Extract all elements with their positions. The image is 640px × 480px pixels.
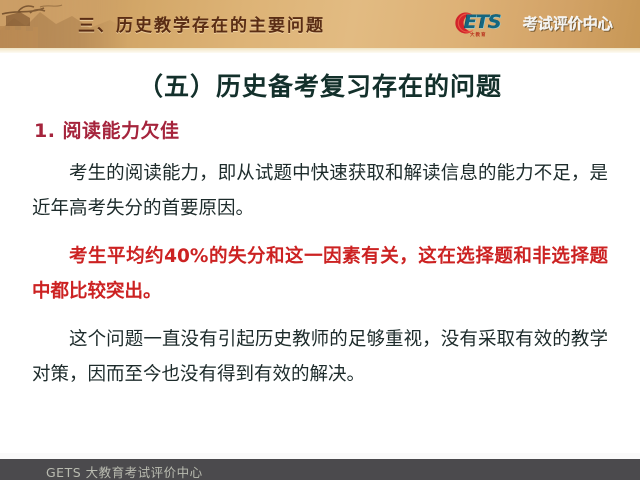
ets-logo-subtext: 大教育	[470, 32, 487, 38]
slide-body: （五）历史备考复习存在的问题 1. 阅读能力欠佳 考生的阅读能力，即从试题中快速…	[0, 53, 640, 453]
slide-header: 三、历史教学存在的主要问题 ETS 大教育 考试评价中心	[0, 0, 640, 48]
body-paragraph-1: 考生的阅读能力，即从试题中快速获取和解读信息的能力不足，是近年高考失分的首要原因…	[32, 156, 608, 226]
ets-logo: ETS 大教育 考试评价中心	[452, 8, 630, 38]
page-title: （五）历史备考复习存在的问题	[0, 67, 640, 103]
body-paragraph-3: 这个问题一直没有引起历史教师的足够重视，没有采取有效的教学对策，因而至今也没有得…	[32, 322, 608, 392]
slide-footer: GETS 大教育考试评价中心	[0, 459, 640, 480]
body-paragraph-2: 考生平均约40%的失分和这一因素有关，这在选择题和非选择题中都比较突出。	[32, 239, 608, 309]
ets-logo-brand-cn: 考试评价中心	[523, 13, 613, 34]
ets-logo-text: ETS	[464, 11, 501, 33]
slide-canvas: 三、历史教学存在的主要问题 ETS 大教育 考试评价中心 （五）历史备考复习存在…	[0, 0, 640, 480]
header-section-title: 三、历史教学存在的主要问题	[78, 11, 325, 36]
sub-heading: 1. 阅读能力欠佳	[34, 116, 640, 143]
footer-brand-text: GETS 大教育考试评价中心	[46, 462, 203, 480]
ets-logo-mark: ETS 大教育	[452, 9, 522, 37]
